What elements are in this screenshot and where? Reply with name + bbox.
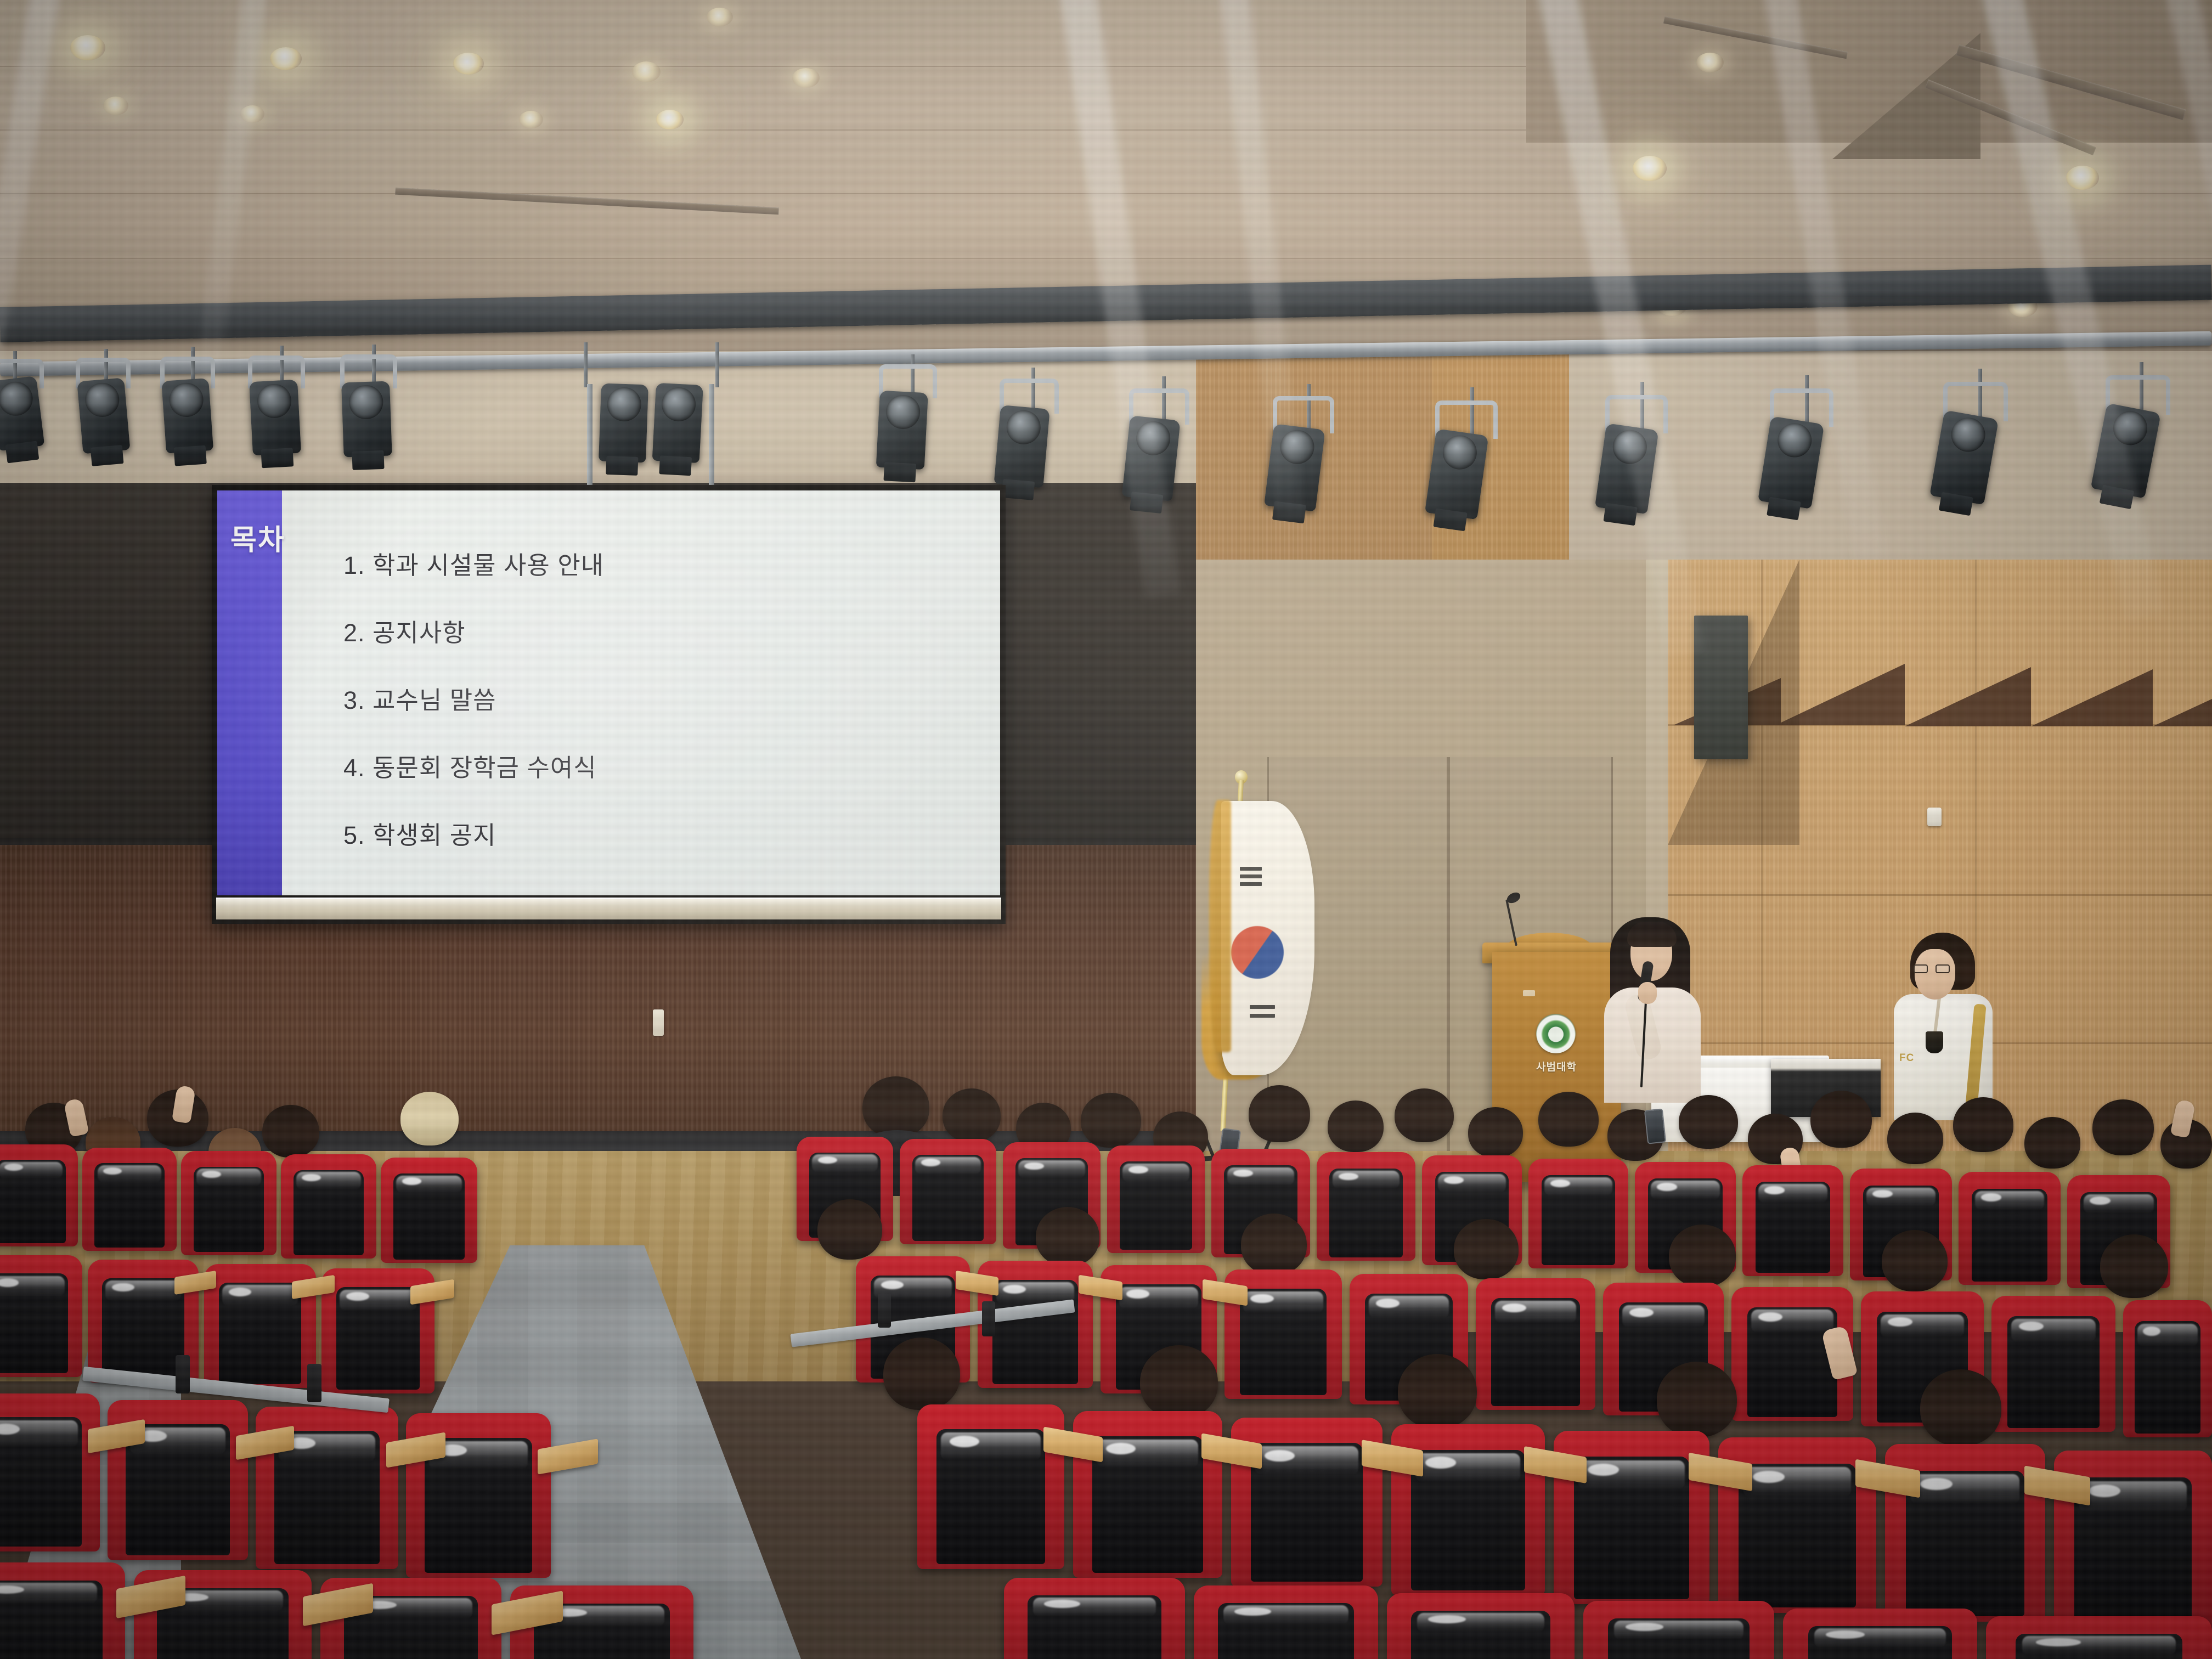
slide-surface: 목차 1. 학과 시설물 사용 안내 2. 공지사항 3. 교수님 말씀 4. …	[217, 490, 1000, 895]
stage-light-fixture	[994, 405, 1050, 488]
ceiling-downlight	[632, 61, 661, 82]
projection-screen: 목차 1. 학과 시설물 사용 안내 2. 공지사항 3. 교수님 말씀 4. …	[212, 485, 1006, 924]
flag-cloth	[1221, 801, 1314, 1075]
presenter-fringe	[1627, 922, 1677, 947]
taeguk-symbol	[1231, 926, 1284, 979]
glasses-icon	[1914, 964, 1950, 973]
fire-alarm-icon	[1927, 808, 1942, 826]
stage-light-fixture	[341, 381, 392, 457]
screen-weight-bar	[216, 898, 1001, 919]
seat-leg	[307, 1364, 321, 1402]
wall-speaker	[1694, 616, 1748, 759]
ceiling-downlight	[70, 35, 105, 60]
stage-light-fixture	[77, 377, 130, 454]
stage-light-fixture	[1122, 415, 1181, 501]
agenda-item: 2. 공지사항	[343, 613, 1000, 648]
wall-sawtooth-accent	[2153, 672, 2212, 726]
jacket-crest-icon	[1926, 1031, 1943, 1053]
flag-fringe-edge	[1209, 800, 1231, 1052]
ceiling-rail	[395, 188, 779, 215]
agenda-item: 3. 교수님 말씀	[343, 680, 1000, 716]
stage-light-fixture	[652, 383, 703, 463]
ceiling-downlight	[656, 110, 684, 129]
agenda-item: 5. 학생회 공지	[343, 815, 1000, 851]
standing-person-face	[1915, 949, 1955, 1000]
ceiling-downlight	[792, 68, 820, 88]
light-mount-post	[587, 384, 592, 492]
slide-agenda-list: 1. 학과 시설물 사용 안내 2. 공지사항 3. 교수님 말씀 4. 동문회…	[282, 490, 1000, 895]
podium-label: 사범대학	[1526, 1059, 1587, 1074]
stage-light-fixture	[161, 378, 213, 454]
jacket-text: FC	[1899, 1052, 1914, 1064]
agenda-item: 4. 동문회 장학금 수여식	[343, 748, 1000, 783]
agenda-item: 1. 학과 시설물 사용 안내	[343, 545, 1000, 581]
ceiling-downlight	[519, 111, 543, 128]
stage-light-fixture	[876, 391, 928, 470]
audience-phone	[1644, 1108, 1666, 1144]
stage-light-fixture	[599, 383, 648, 462]
auditorium-photo: 목차 1. 학과 시설물 사용 안내 2. 공지사항 3. 교수님 말씀 4. …	[0, 0, 2212, 1659]
presenter-hand	[1638, 982, 1657, 1004]
audience-head-blonde	[400, 1092, 459, 1145]
ceiling-downlight	[453, 53, 484, 75]
seat-leg	[878, 1293, 891, 1328]
podium-emblem-icon	[1536, 1014, 1576, 1053]
ceiling-downlight	[707, 8, 733, 26]
ceiling-downlight	[270, 47, 302, 70]
ceiling-downlight	[1633, 156, 1667, 181]
slide-sidebar: 목차	[217, 490, 282, 895]
wall-sawtooth-accent	[2031, 669, 2153, 726]
wall-sawtooth-accent	[1905, 667, 2031, 726]
stage-light-fixture	[1264, 424, 1325, 511]
ceiling-downlight	[103, 97, 128, 115]
stage-light-fixture	[249, 380, 301, 455]
ceiling-downlight	[2066, 166, 2099, 190]
wall-power-outlet	[653, 1009, 664, 1036]
seat-leg	[982, 1301, 995, 1336]
seat-leg	[176, 1355, 190, 1393]
ceiling-downlight	[240, 105, 264, 123]
slide-title: 목차	[230, 517, 285, 558]
light-mount-post	[709, 384, 714, 492]
podium-control-panel[interactable]	[1523, 990, 1535, 996]
ceiling-downlight	[1696, 53, 1724, 72]
